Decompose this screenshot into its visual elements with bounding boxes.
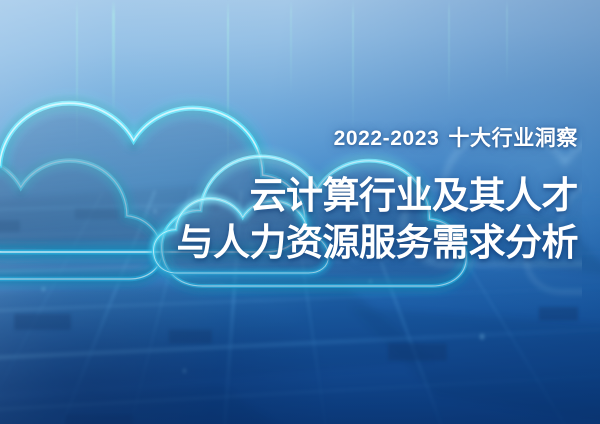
headline-block: 2022-2023十大行业洞察 云计算行业及其人才 与人力资源服务需求分析: [158, 128, 578, 266]
subtitle-series: 十大行业洞察: [448, 127, 578, 150]
page-title: 云计算行业及其人才 与人力资源服务需求分析: [158, 173, 578, 266]
subtitle: 2022-2023十大行业洞察: [158, 128, 578, 149]
poster-banner: 2022-2023十大行业洞察 云计算行业及其人才 与人力资源服务需求分析: [0, 0, 600, 424]
title-line-1: 云计算行业及其人才: [158, 173, 578, 220]
subtitle-years: 2022-2023: [334, 127, 440, 150]
title-line-2: 与人力资源服务需求分析: [158, 220, 578, 267]
